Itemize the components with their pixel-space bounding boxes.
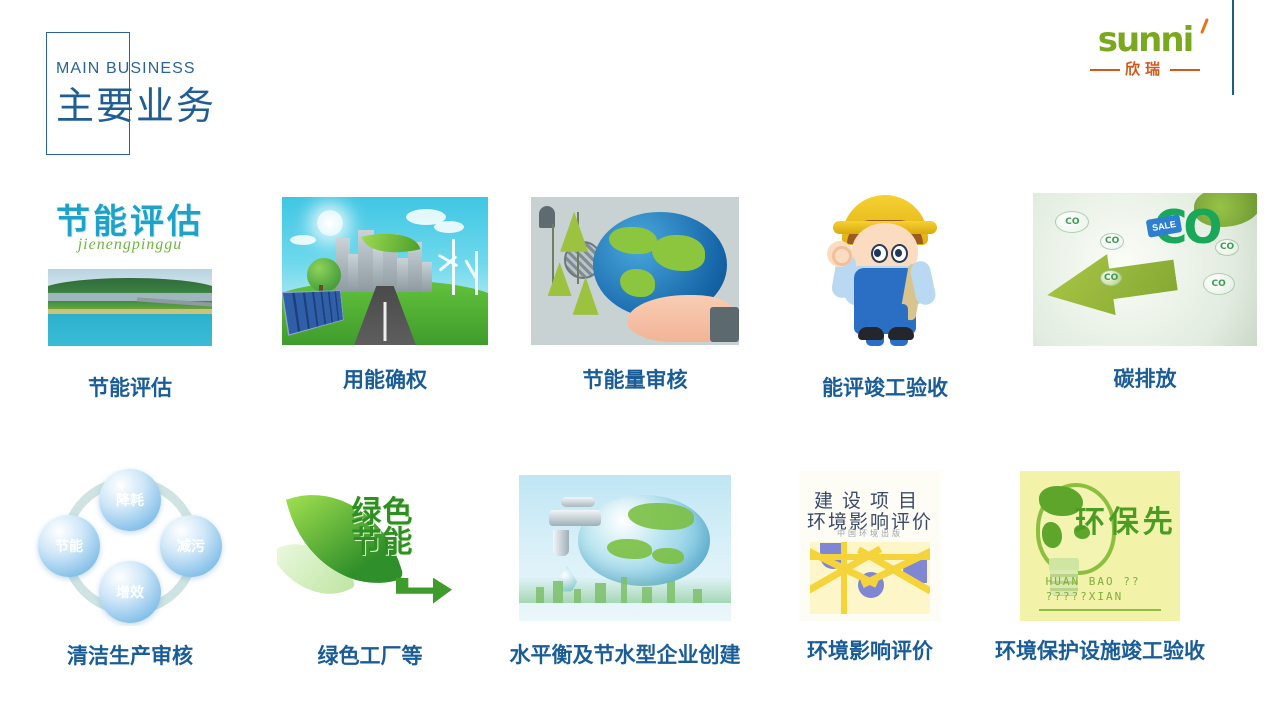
landmass — [628, 503, 694, 530]
leaf-logo-text: 绿色 节能 — [351, 498, 455, 558]
business-card-energy-saving-audit[interactable]: 节能量审核 — [510, 180, 760, 430]
graphic-bar — [841, 542, 847, 614]
caption-environmental-impact-assessment: 环境影响评价 — [807, 639, 933, 665]
art-book-cover: 建设项目 环境影响评价 中国环境出版 — [799, 471, 941, 621]
poster-pinyin-line1: HUAN BAO ?? — [1046, 575, 1141, 588]
faucet-spout — [553, 530, 569, 556]
business-card-environmental-impact-assessment[interactable]: 建设项目 环境影响评价 中国环境出版 — [770, 458, 970, 708]
leaf-logo-line2: 节能 — [351, 528, 455, 558]
poster-pinyin: jienengpinggu — [32, 236, 228, 254]
caption-env-protection-acceptance: 环境保护设施竣工验收 — [995, 639, 1205, 665]
landmass — [652, 548, 684, 564]
business-card-cleaner-production-audit[interactable]: 降耗 减污 增效 节能 清洁生产审核 — [0, 458, 260, 708]
co2-bubble: CO — [1100, 233, 1124, 250]
thumbnail-green-factory: 绿色 节能 — [277, 466, 463, 626]
node-top: 降耗 — [99, 469, 161, 531]
business-card-env-protection-acceptance[interactable]: 环保先 HUAN BAO ?? ?????XIAN 环境保护设施竣工验收 — [970, 458, 1230, 708]
business-grid: 节能评估 jienengpinggu 节能评估 — [0, 180, 1280, 710]
building — [693, 589, 702, 603]
co2-bubble: CO — [1203, 273, 1235, 295]
caption-energy-review-acceptance: 能评竣工验收 — [822, 376, 948, 402]
caption-cleaner-production-audit: 清洁生产审核 — [67, 644, 193, 670]
building — [621, 577, 627, 603]
thumbnail-water-balance — [519, 475, 731, 621]
art-carbon-arrow: CO SALE CO CO CO CO CO — [1033, 193, 1257, 346]
landmass — [607, 539, 652, 559]
caption-energy-saving-audit: 节能量审核 — [583, 368, 688, 394]
caption-energy-saving-assessment: 节能评估 — [88, 376, 172, 402]
thumbnail-carbon-emission: CO SALE CO CO CO CO CO — [1033, 193, 1257, 346]
title-chinese: 主要业务 — [56, 82, 476, 132]
tree-icon — [560, 212, 588, 252]
co2-bubble: CO — [1100, 270, 1122, 286]
pole — [552, 224, 554, 284]
shoe — [888, 327, 914, 340]
globe-icon — [578, 495, 709, 586]
node-left: 节能 — [38, 515, 100, 577]
road-marking — [384, 302, 387, 340]
co2-bubble: CO — [1055, 211, 1089, 233]
thumbnail-cleaner-production-audit: 降耗 减污 增效 节能 — [30, 466, 230, 626]
thumbnail-energy-saving-audit — [531, 197, 739, 345]
photo-sandbar — [48, 309, 213, 314]
business-card-energy-use-rights[interactable]: 用能确权 — [260, 180, 510, 430]
business-card-water-balance[interactable]: 水平衡及节水型企业创建 — [480, 458, 770, 708]
co2-bubble: CO — [1215, 239, 1239, 256]
book-publisher: 中国环境出版 — [799, 528, 941, 539]
wind-turbine — [452, 239, 455, 295]
building — [422, 262, 432, 292]
business-card-energy-saving-assessment[interactable]: 节能评估 jienengpinggu 节能评估 — [0, 180, 260, 430]
art-diamond-diagram: 降耗 减污 增效 节能 — [30, 466, 230, 626]
brand-chinese-name: 欣瑞 — [1125, 61, 1165, 79]
building — [595, 583, 606, 603]
brand-logo: sunni 欣瑞 — [1070, 20, 1220, 82]
landmass — [609, 227, 657, 255]
art-tap-globe — [519, 475, 731, 621]
art-green-city — [282, 197, 488, 345]
art-leaf-logo: 绿色 节能 — [277, 466, 463, 626]
landmass — [620, 269, 655, 297]
art-worker — [805, 185, 965, 350]
caption-energy-use-rights: 用能确权 — [343, 368, 427, 394]
brand-rule-right — [1170, 69, 1200, 71]
caption-water-balance: 水平衡及节水型企业创建 — [510, 643, 741, 669]
faucet-handle — [561, 497, 595, 507]
caption-carbon-emission: 碳排放 — [1114, 367, 1177, 393]
poster-photo — [48, 269, 213, 346]
brand-subtitle: 欣瑞 — [1070, 60, 1220, 80]
thumbnail-energy-review-acceptance — [805, 185, 965, 350]
poster-pinyin-line2: ?????XIAN — [1046, 590, 1124, 603]
title-english: MAIN BUSINESS — [56, 58, 476, 80]
cloud-icon — [434, 221, 464, 233]
landmass — [652, 235, 705, 271]
node-bottom: 增效 — [99, 561, 161, 623]
pupil — [895, 249, 902, 257]
header-divider-line — [1232, 0, 1234, 95]
art-bulb-poster: 环保先 HUAN BAO ?? ?????XIAN — [1020, 471, 1180, 621]
faucet-body — [549, 510, 601, 526]
cloud-icon — [290, 235, 316, 245]
thumbnail-env-protection-acceptance: 环保先 HUAN BAO ?? ?????XIAN — [1020, 471, 1180, 621]
art-poster: 节能评估 jienengpinggu — [32, 188, 228, 356]
business-card-carbon-emission[interactable]: CO SALE CO CO CO CO CO 碳排放 — [1010, 180, 1280, 430]
brand-mark: sunni — [1070, 20, 1220, 60]
poster-rule — [1039, 609, 1161, 611]
graphic-bar — [810, 554, 929, 560]
page-title: MAIN BUSINESS 主要业务 — [56, 58, 476, 132]
building — [667, 581, 675, 603]
recycle-arrow-icon — [396, 578, 452, 604]
node-right: 减污 — [160, 515, 222, 577]
building — [574, 589, 581, 603]
business-card-green-factory[interactable]: 绿色 节能 绿色工厂等 — [260, 458, 480, 708]
business-card-energy-review-acceptance[interactable]: 能评竣工验收 — [760, 180, 1010, 430]
poster-chinese-text: 环保先 — [1075, 507, 1177, 539]
building — [553, 581, 563, 603]
sleeve-cuff — [710, 307, 739, 343]
brand-rule-left — [1090, 69, 1120, 71]
shoe — [858, 327, 884, 340]
slide-header: MAIN BUSINESS 主要业务 sunni 欣瑞 — [0, 0, 1280, 175]
leaf-logo-line1: 绿色 — [351, 498, 455, 528]
book-cover-graphic — [810, 542, 929, 614]
overall-strap — [863, 268, 872, 288]
thumbnail-environmental-impact-assessment: 建设项目 环境影响评价 中国环境出版 — [799, 471, 941, 621]
overall-strap — [896, 268, 905, 288]
building — [536, 587, 544, 603]
brand-wordmark: sunni — [1070, 20, 1220, 60]
business-row-1: 节能评估 jienengpinggu 节能评估 — [0, 180, 1280, 430]
tree-icon — [307, 258, 341, 292]
art-hand-globe — [531, 197, 739, 345]
thumbnail-energy-saving-assessment: 节能评估 jienengpinggu — [32, 188, 228, 356]
thumbnail-energy-use-rights — [282, 197, 488, 345]
caption-green-factory: 绿色工厂等 — [318, 644, 423, 670]
business-row-2: 降耗 减污 增效 节能 清洁生产审核 绿色 节能 — [0, 458, 1280, 708]
sun-icon — [317, 210, 343, 236]
building — [642, 587, 652, 603]
